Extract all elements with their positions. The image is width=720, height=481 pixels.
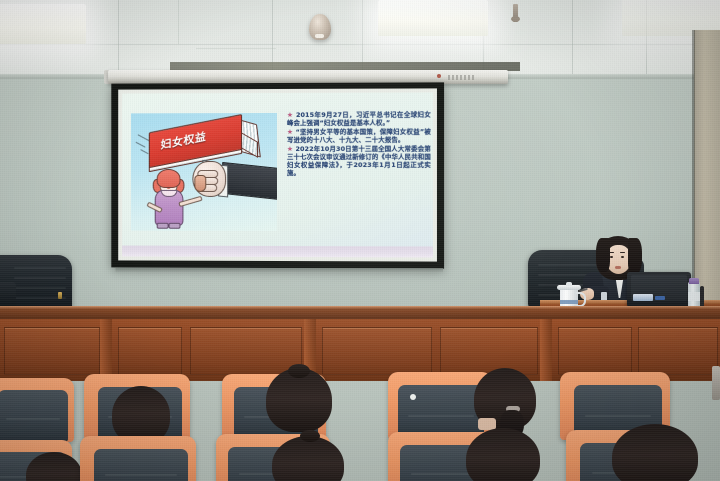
mug-handle	[576, 292, 586, 307]
mug-lid-knob	[566, 282, 572, 286]
auditorium-seat[interactable]	[80, 436, 196, 481]
microphone	[700, 286, 704, 308]
shoulder-strap	[712, 366, 720, 400]
laptop-label	[633, 294, 653, 301]
girl-hair	[157, 169, 181, 188]
screenshot-root: 妇女权益	[0, 0, 720, 481]
girl-shoe-left	[157, 223, 169, 229]
slide-bullet-1-text: 2015年9月27日，习近平总书记在全球妇女峰会上强调“妇女权益是基本人权。”	[287, 111, 431, 128]
bench-top-highlight	[0, 306, 720, 309]
thumb	[194, 175, 206, 192]
audience-head	[612, 424, 698, 481]
slide-text-block: ★ 2015年9月27日，习近平总书记在全球妇女峰会上强调“妇女权益是基本人权。…	[287, 111, 431, 179]
slide-illustration: 妇女权益	[131, 113, 277, 231]
bullet-marker-icon: ★	[287, 111, 293, 119]
projection-screen: 妇女权益	[111, 82, 444, 268]
roller-indicator-dot	[437, 74, 441, 78]
bench-panel	[118, 327, 182, 375]
chair-brass-stud-icon	[58, 292, 62, 299]
bullet-marker-icon: ★	[287, 145, 293, 153]
ceiling-light-left	[0, 4, 86, 44]
bench-panel	[4, 327, 100, 375]
bench-panel	[558, 327, 632, 375]
auditorium-seat[interactable]	[0, 378, 74, 442]
bottle-label	[688, 292, 700, 301]
bench-panel	[322, 327, 432, 375]
slide-bullet-1: ★ 2015年9月27日，习近平总书记在全球妇女峰会上强调“妇女权益是基本人权。…	[287, 111, 431, 128]
suit-sleeve	[222, 162, 277, 200]
slide-bullet-2-text: “坚持男女平等的基本国策，保障妇女权益”被写进党的十八大、十九大、二十大报告。	[287, 128, 431, 145]
screen-white-border: 妇女权益	[118, 88, 437, 261]
bench-panel	[190, 327, 302, 375]
bench-panel	[440, 327, 538, 375]
bullet-marker-icon: ★	[287, 128, 293, 136]
dome-camera-icon	[309, 14, 331, 40]
audience-hair-bun	[288, 364, 310, 378]
left-chair-armrest	[0, 282, 16, 308]
girl-shoe-right	[169, 223, 181, 229]
bench-stile	[100, 319, 112, 381]
audience-head	[466, 428, 540, 481]
ceiling-light-center	[378, 0, 488, 36]
slide-bullet-2: ★ “坚持男女平等的基本国策，保障妇女权益”被写进党的十八大、十九大、二十大报告…	[287, 128, 431, 145]
bench-stile	[540, 319, 552, 381]
bench-panel	[638, 327, 718, 375]
slide-bullet-3-text: 2022年10月30日第十三届全国人大常委会第三十七次会议审议通过新修订的《中华…	[287, 145, 431, 178]
slide-content: 妇女权益	[122, 92, 433, 257]
audience-head	[272, 436, 344, 481]
slide-footer-band	[122, 246, 433, 258]
presenter-hair-strand-left	[596, 238, 610, 272]
screen-bottom-bar	[115, 268, 443, 273]
roller-label	[448, 75, 474, 80]
sprinkler-head-icon	[513, 4, 518, 22]
white-object	[410, 394, 416, 400]
slide-bullet-3: ★ 2022年10月30日第十三届全国人大常委会第三十七次会议审议通过新修订的《…	[287, 145, 431, 178]
bottle-cap[interactable]	[689, 278, 699, 284]
laptop-label-2	[655, 296, 665, 300]
presenter-hair-strand-right	[628, 238, 642, 274]
presenter-mouth	[615, 266, 621, 269]
audience-hair-bun	[300, 430, 320, 442]
